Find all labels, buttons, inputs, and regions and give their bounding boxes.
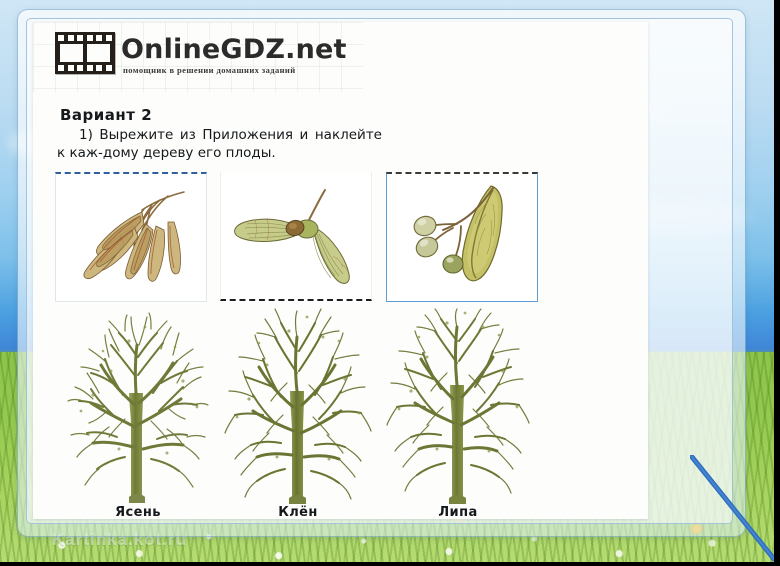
- site-subtitle: помощник в решении домашних заданий: [123, 65, 347, 75]
- tree-label-ash: Ясень: [63, 505, 213, 520]
- ash-tree-image[interactable]: [63, 307, 213, 507]
- tree-label-maple: Клён: [223, 505, 373, 520]
- fruit-images-row: [43, 172, 643, 307]
- worksheet-page: OnlineGDZ.net помощник в решении домашни…: [33, 22, 648, 519]
- ash-fruit-image[interactable]: [55, 172, 207, 302]
- linden-tree-image[interactable]: [383, 307, 533, 507]
- site-logo-text: OnlineGDZ.net помощник в решении домашни…: [121, 32, 347, 75]
- filmstrip-icon: [55, 32, 115, 74]
- presentation-screen: Kartinka.kot.ru OnlineGDZ.net помощник в…: [0, 0, 780, 566]
- maple-fruit-image[interactable]: [220, 172, 372, 301]
- variant-heading: Вариант 2: [60, 106, 152, 124]
- maple-tree-image[interactable]: [223, 307, 373, 507]
- tree-images-row: Ясень Клён Липа: [43, 307, 643, 522]
- site-logo[interactable]: OnlineGDZ.net помощник в решении домашни…: [55, 32, 347, 75]
- task-text: Вырежите из Приложения и наклейте к каж-…: [57, 127, 382, 161]
- task-paragraph: 1) Вырежите из Приложения и наклейте к к…: [57, 127, 382, 163]
- tree-label-linden: Липа: [383, 505, 533, 520]
- site-title: OnlineGDZ.net: [121, 36, 347, 63]
- task-number: 1): [79, 127, 93, 143]
- linden-fruit-image[interactable]: [386, 172, 538, 302]
